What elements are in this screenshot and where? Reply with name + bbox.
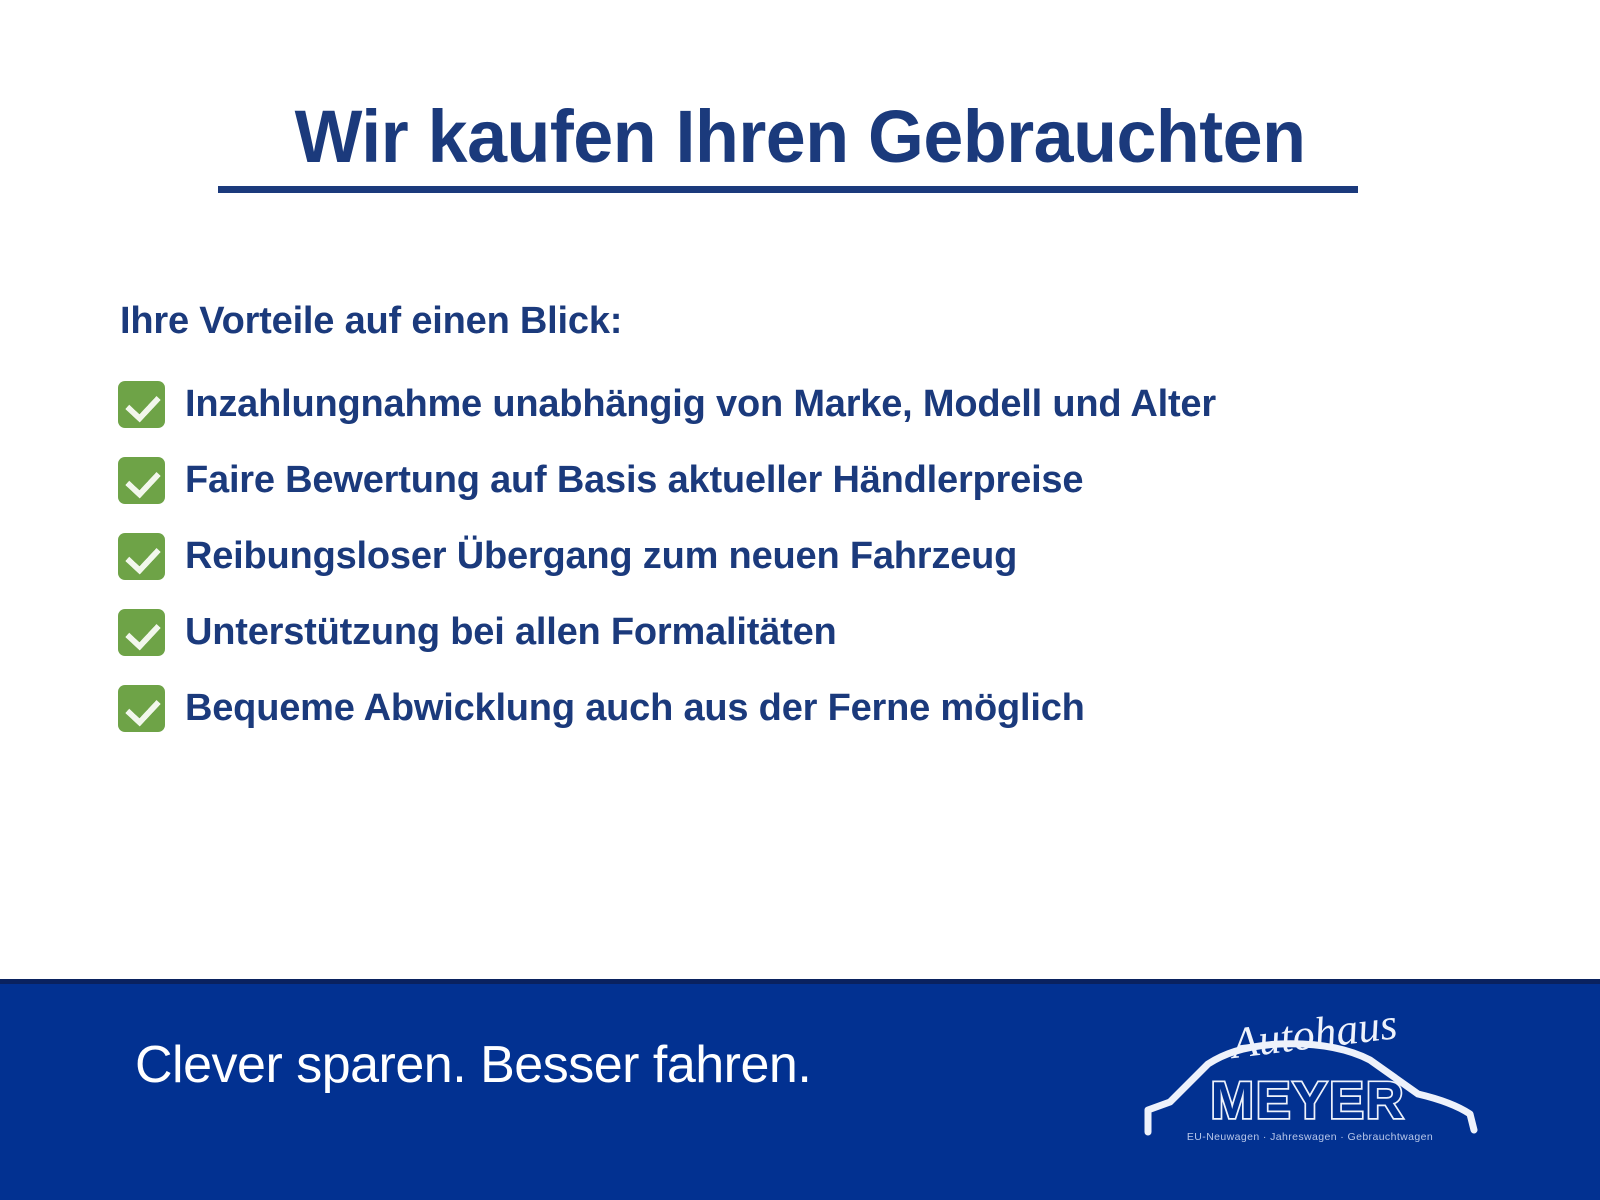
list-item: Inzahlungnahme unabhängig von Marke, Mod… (118, 378, 1518, 430)
logo-script-text: Autohaus (1226, 999, 1400, 1068)
list-item-label: Unterstützung bei allen Formalitäten (185, 609, 837, 655)
check-icon (118, 457, 165, 504)
benefits-subheading: Ihre Vorteile auf einen Blick: (120, 298, 622, 344)
list-item: Unterstützung bei allen Formalitäten (118, 606, 1518, 658)
list-item-label: Bequeme Abwicklung auch aus der Ferne mö… (185, 685, 1085, 731)
list-item: Bequeme Abwicklung auch aus der Ferne mö… (118, 682, 1518, 734)
list-item: Reibungsloser Übergang zum neuen Fahrzeu… (118, 530, 1518, 582)
footer-bar: Clever sparen. Besser fahren. Autohaus M… (0, 979, 1600, 1200)
list-item-label: Reibungsloser Übergang zum neuen Fahrzeu… (185, 533, 1017, 579)
title-underline-rule (218, 186, 1358, 193)
benefits-list: Inzahlungnahme unabhängig von Marke, Mod… (118, 378, 1518, 758)
list-item-label: Inzahlungnahme unabhängig von Marke, Mod… (185, 381, 1216, 427)
car-silhouette-icon (1148, 1044, 1474, 1132)
ad-banner: Wir kaufen Ihren Gebrauchten Ihre Vortei… (0, 0, 1600, 1200)
autohaus-meyer-logo: Autohaus MEYER EU-Neuwagen · Jahreswagen… (1130, 990, 1490, 1160)
check-icon (118, 609, 165, 656)
logo-subtagline-text: EU-Neuwagen · Jahreswagen · Gebrauchtwag… (1187, 1131, 1433, 1143)
logo-wordmark-text: MEYER (1211, 1072, 1406, 1130)
page-title: Wir kaufen Ihren Gebrauchten (295, 96, 1306, 178)
page-title-wrapper: Wir kaufen Ihren Gebrauchten (0, 96, 1600, 178)
check-icon (118, 533, 165, 580)
footer-tagline: Clever sparen. Besser fahren. (135, 1034, 811, 1096)
check-icon (118, 381, 165, 428)
list-item-label: Faire Bewertung auf Basis aktueller Händ… (185, 457, 1083, 503)
check-icon (118, 685, 165, 732)
list-item: Faire Bewertung auf Basis aktueller Händ… (118, 454, 1518, 506)
